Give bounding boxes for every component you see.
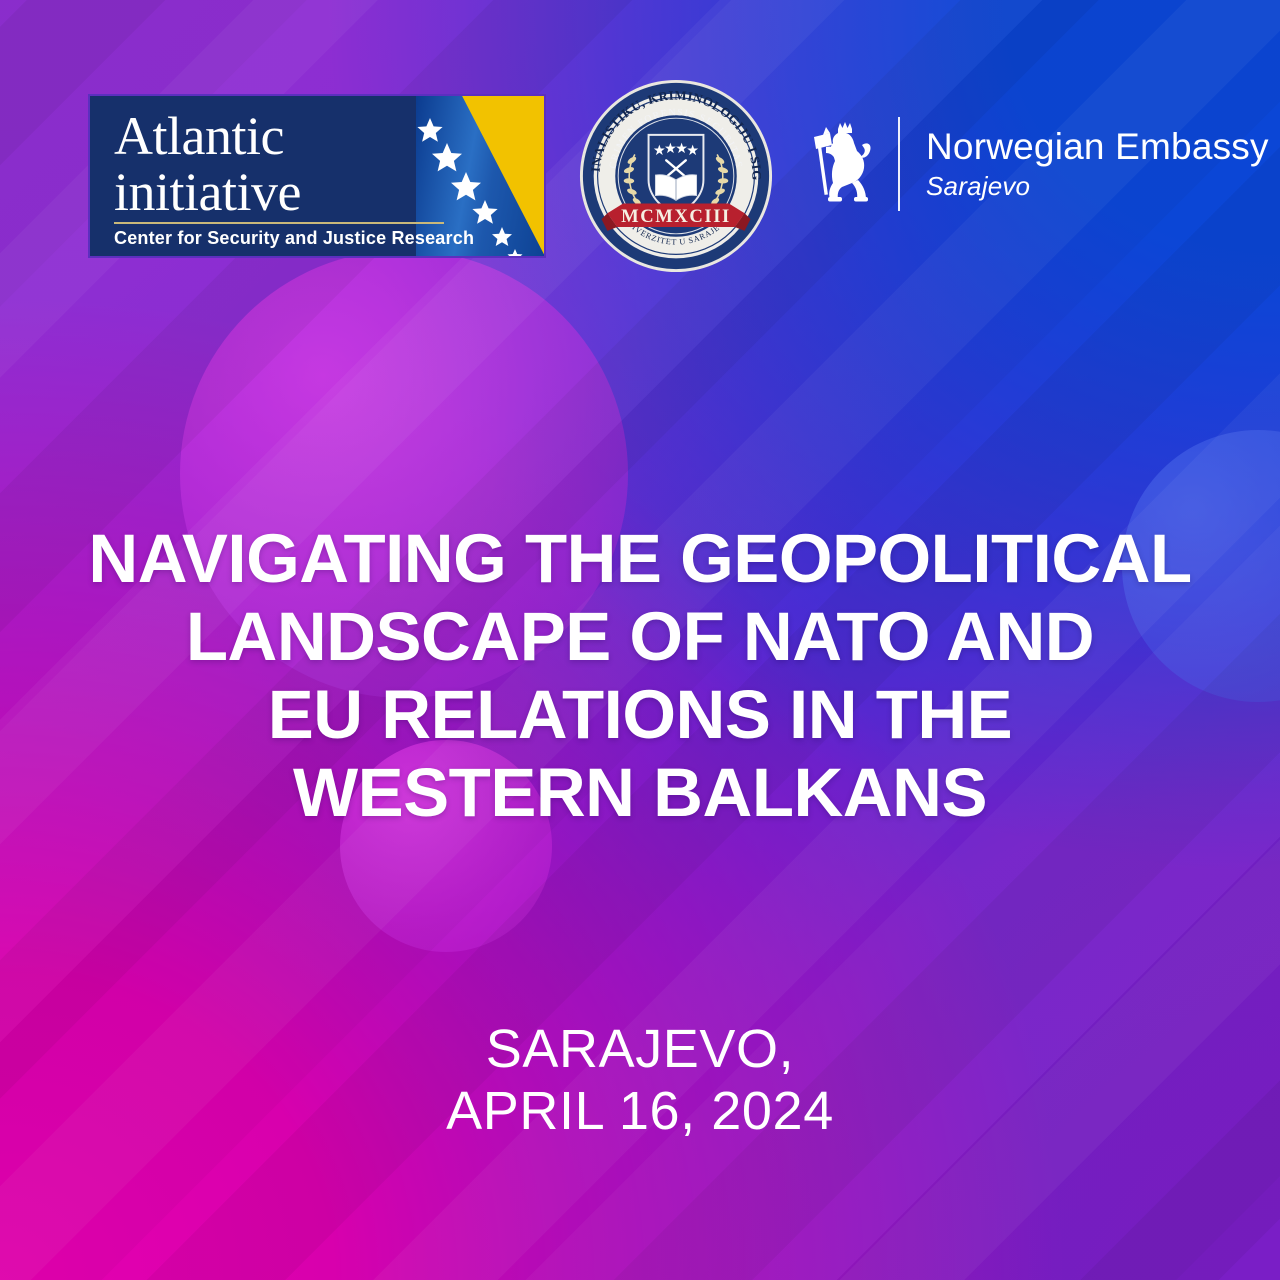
norwegian-lion-rampant-icon [808, 115, 880, 213]
norwegian-embassy-divider [898, 117, 900, 211]
poster-title-line-2: LANDSCAPE OF NATO AND [0, 598, 1280, 676]
event-location: SARAJEVO, [0, 1018, 1280, 1080]
event-poster: Atlantic initiative Center for Security … [0, 0, 1280, 1280]
norwegian-embassy-city: Sarajevo [926, 170, 1269, 202]
event-date: APRIL 16, 2024 [0, 1080, 1280, 1142]
atlantic-initiative-line1: Atlantic [114, 108, 454, 164]
atlantic-initiative-wordmark: Atlantic initiative [114, 108, 454, 220]
svg-text:MCMXCIII: MCMXCIII [621, 206, 731, 227]
norwegian-embassy-text: Norwegian Embassy Sarajevo [926, 126, 1269, 202]
atlantic-initiative-line2: initiative [114, 164, 454, 220]
logo-header: Atlantic initiative Center for Security … [0, 0, 1280, 275]
university-of-sarajevo-faculty-seal[interactable]: FAKULTET ZA KRIMINALISTIKU, KRIMINOLOGIJ… [578, 78, 774, 274]
atlantic-initiative-logo[interactable]: Atlantic initiative Center for Security … [88, 94, 546, 258]
atlantic-initiative-tagline: Center for Security and Justice Research [114, 228, 474, 249]
poster-title: NAVIGATING THE GEOPOLITICAL LANDSCAPE OF… [0, 520, 1280, 832]
atlantic-initiative-divider [114, 222, 444, 224]
norwegian-embassy-logo[interactable]: Norwegian Embassy Sarajevo [808, 112, 1269, 216]
poster-title-line-3: EU RELATIONS IN THE [0, 676, 1280, 754]
norwegian-embassy-title: Norwegian Embassy [926, 126, 1269, 168]
poster-title-line-4: WESTERN BALKANS [0, 754, 1280, 832]
event-details: SARAJEVO, APRIL 16, 2024 [0, 1018, 1280, 1142]
poster-title-line-1: NAVIGATING THE GEOPOLITICAL [0, 520, 1280, 598]
